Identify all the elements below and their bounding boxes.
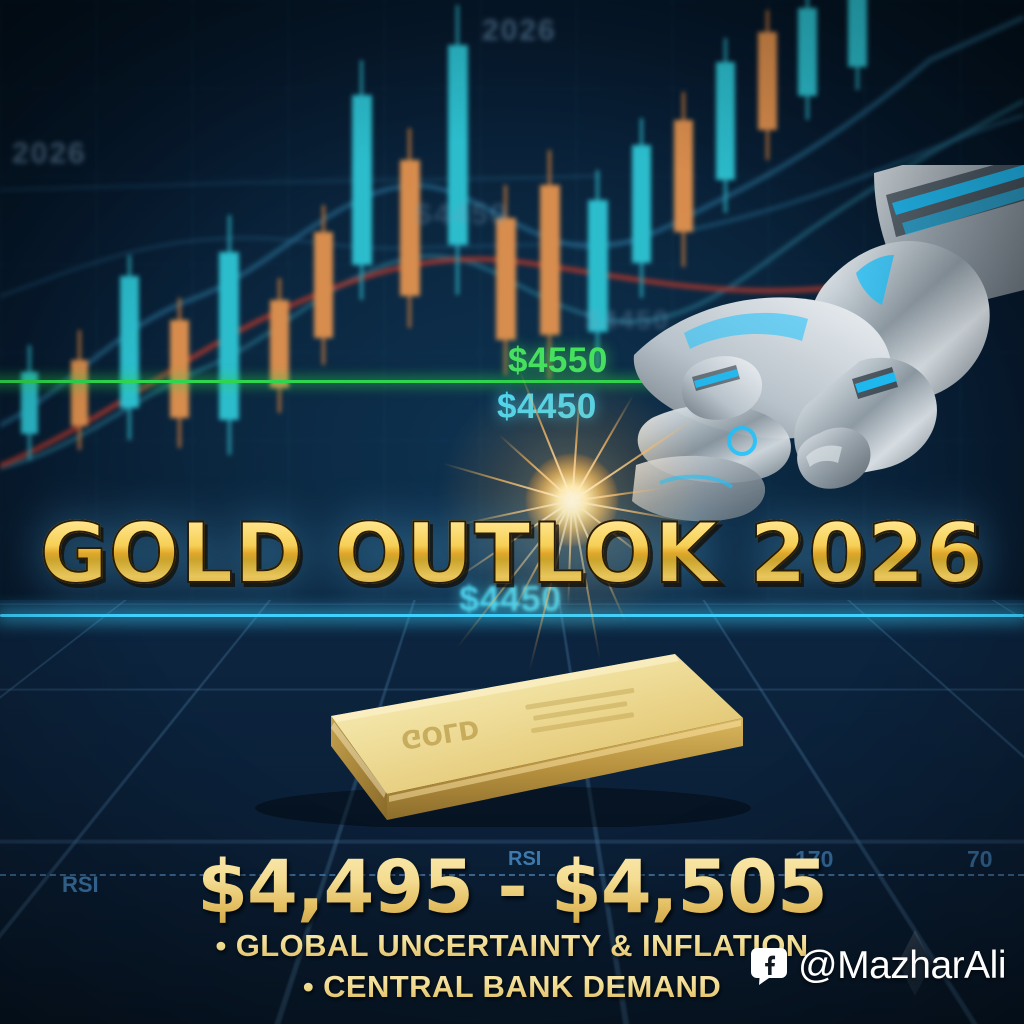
bg-year-label: 2026 (12, 137, 87, 171)
facebook-icon[interactable] (749, 946, 789, 986)
page-title: GOLD OUTLOK 2026 (0, 505, 1024, 602)
headline-text: GOLD OUTLOK 2026 (40, 505, 985, 602)
bg-price-label: $4450 (415, 198, 508, 232)
forecast-range-value: $4,495 - $4,505 (197, 845, 827, 930)
social-handle-text[interactable]: @MazharAli (798, 944, 1006, 988)
gold-bar: GOLD (235, 612, 755, 827)
forecast-range: $4,495 - $4,505 (0, 845, 1024, 930)
bg-year-label: 2026 (482, 14, 557, 48)
gold-outlook-poster: 2026 2026 $4450 $4450 $4550 $4450 $4450 (0, 0, 1024, 1024)
social-handle[interactable]: @MazharAli (749, 944, 1006, 988)
